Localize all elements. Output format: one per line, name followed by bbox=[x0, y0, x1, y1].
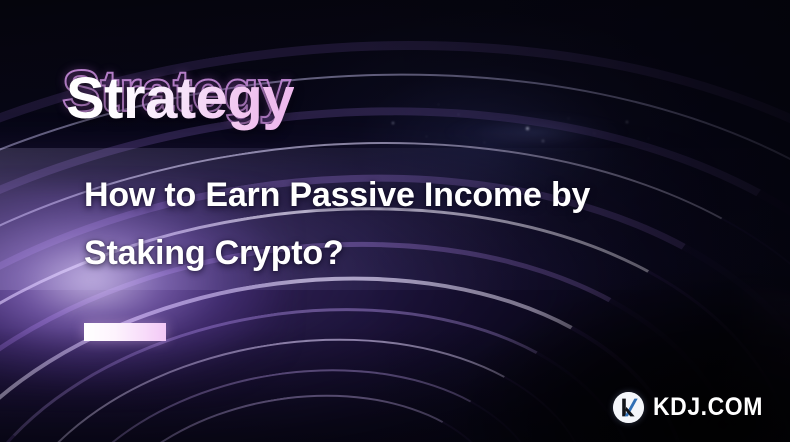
banner-content: Strategy Strategy How to Earn Passive In… bbox=[0, 0, 790, 442]
kicker: Strategy Strategy bbox=[66, 62, 294, 136]
headline-line-1: How to Earn Passive Income by bbox=[84, 166, 724, 224]
kdj-k-circle-icon bbox=[613, 392, 644, 423]
article-banner: Strategy Strategy How to Earn Passive In… bbox=[0, 0, 790, 442]
site-logo[interactable]: KDJ.COM bbox=[613, 390, 772, 424]
logo-text: KDJ.COM bbox=[653, 395, 763, 420]
page-title: How to Earn Passive Income by Staking Cr… bbox=[84, 166, 724, 282]
headline-line-2: Staking Crypto? bbox=[84, 224, 724, 282]
accent-bar bbox=[84, 323, 166, 341]
kicker-fill-text: Strategy bbox=[66, 62, 294, 136]
